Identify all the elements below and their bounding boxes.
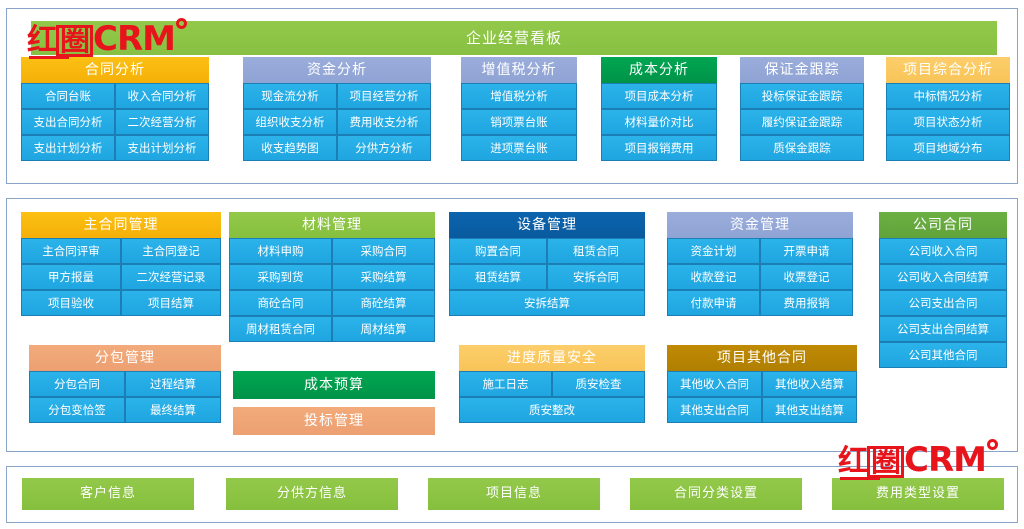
menu-item[interactable]: 主合同登记: [121, 238, 221, 264]
card-cost-budget[interactable]: 成本预算: [233, 371, 435, 399]
card-equipment-mgmt[interactable]: 设备管理 购置合同 租赁合同 租赁结算 安拆合同 安拆结算: [449, 212, 645, 316]
menu-item[interactable]: 付款申请: [667, 290, 760, 316]
card-company-contracts[interactable]: 公司合同 公司收入合同 公司收入合同结算 公司支出合同 公司支出合同结算 公司其…: [879, 212, 1007, 368]
btn-project-info[interactable]: 项目信息: [428, 478, 600, 510]
mid-management-panel: 主合同管理 主合同评审 主合同登记 甲方报量 二次经营记录 项目验收 项目结算 …: [6, 198, 1018, 452]
card-body: 施工日志 质安检查 质安整改: [459, 371, 645, 423]
btn-supplier-info[interactable]: 分供方信息: [226, 478, 398, 510]
menu-item[interactable]: 开票申请: [760, 238, 853, 264]
menu-item[interactable]: 最终结算: [125, 397, 221, 423]
menu-item[interactable]: 中标情况分析: [886, 83, 1010, 109]
card-header: 成本分析: [601, 57, 717, 83]
menu-item[interactable]: 现金流分析: [243, 83, 337, 109]
card-progress-quality-safety[interactable]: 进度质量安全 施工日志 质安检查 质安整改: [459, 345, 645, 423]
menu-item[interactable]: 其他收入合同: [667, 371, 762, 397]
menu-item[interactable]: 甲方报量: [21, 264, 121, 290]
card-header: 成本预算: [233, 371, 435, 399]
menu-item[interactable]: 采购结算: [332, 264, 435, 290]
menu-item[interactable]: 进项票台账: [461, 135, 577, 161]
card-header: 分包管理: [29, 345, 221, 371]
card-body: 现金流分析 项目经营分析 组织收支分析 费用收支分析 收支趋势图 分供方分析: [243, 83, 431, 161]
menu-item[interactable]: 质保金跟踪: [740, 135, 864, 161]
menu-item[interactable]: 收入合同分析: [115, 83, 209, 109]
menu-item[interactable]: 支出合同分析: [21, 109, 115, 135]
menu-item[interactable]: 项目经营分析: [337, 83, 431, 109]
menu-item[interactable]: 投标保证金跟踪: [740, 83, 864, 109]
menu-item[interactable]: 公司收入合同结算: [879, 264, 1007, 290]
card-fund-mgmt[interactable]: 资金管理 资金计划 开票申请 收款登记 收票登记 付款申请 费用报销: [667, 212, 853, 316]
card-main-contract-mgmt[interactable]: 主合同管理 主合同评审 主合同登记 甲方报量 二次经营记录 项目验收 项目结算: [21, 212, 221, 316]
card-body: 材料申购 采购合同 采购到货 采购结算 商砼合同 商砼结算 周材租赁合同 周材结…: [229, 238, 435, 342]
menu-item[interactable]: 其他支出合同: [667, 397, 762, 423]
brand-logo: 红圈CRM: [27, 22, 187, 57]
menu-item[interactable]: 二次经营分析: [115, 109, 209, 135]
menu-item[interactable]: 收票登记: [760, 264, 853, 290]
menu-item[interactable]: 收支趋势图: [243, 135, 337, 161]
menu-item[interactable]: 分包变恰签: [29, 397, 125, 423]
menu-item[interactable]: 项目成本分析: [601, 83, 717, 109]
card-header: 主合同管理: [21, 212, 221, 238]
card-cost-analysis[interactable]: 成本分析 项目成本分析 材料量价对比 项目报销费用: [601, 57, 717, 161]
brand-underline: [840, 477, 880, 480]
card-body: 购置合同 租赁合同 租赁结算 安拆合同 安拆结算: [449, 238, 645, 316]
btn-customer-info[interactable]: 客户信息: [22, 478, 194, 510]
degree-circle-icon: [987, 439, 998, 450]
card-body: 资金计划 开票申请 收款登记 收票登记 付款申请 费用报销: [667, 238, 853, 316]
card-header: 公司合同: [879, 212, 1007, 238]
card-project-overview-analysis[interactable]: 项目综合分析 中标情况分析 项目状态分析 项目地域分布: [886, 57, 1010, 161]
menu-item[interactable]: 项目结算: [121, 290, 221, 316]
menu-item[interactable]: 费用收支分析: [337, 109, 431, 135]
menu-item[interactable]: 项目地域分布: [886, 135, 1010, 161]
card-body: 投标保证金跟踪 履约保证金跟踪 质保金跟踪: [740, 83, 864, 161]
menu-item[interactable]: 履约保证金跟踪: [740, 109, 864, 135]
menu-item[interactable]: 项目报销费用: [601, 135, 717, 161]
menu-item[interactable]: 公司其他合同: [879, 342, 1007, 368]
card-header: 资金管理: [667, 212, 853, 238]
card-body: 增值税分析 销项票台账 进项票台账: [461, 83, 577, 161]
card-body: 合同台账 收入合同分析 支出合同分析 二次经营分析 支出计划分析 支出计划分析: [21, 83, 209, 161]
brand-cn-2: 圈: [867, 446, 904, 478]
menu-item[interactable]: 安拆合同: [547, 264, 645, 290]
card-header: 保证金跟踪: [740, 57, 864, 83]
menu-item[interactable]: 安拆结算: [449, 290, 645, 316]
menu-item[interactable]: 租赁结算: [449, 264, 547, 290]
brand-en: CRM: [93, 19, 175, 59]
card-body: 中标情况分析 项目状态分析 项目地域分布: [886, 83, 1010, 161]
menu-item[interactable]: 支出计划分析: [115, 135, 209, 161]
card-contract-analysis[interactable]: 合同分析 合同台账 收入合同分析 支出合同分析 二次经营分析 支出计划分析 支出…: [21, 57, 209, 161]
menu-item[interactable]: 资金计划: [667, 238, 760, 264]
menu-item[interactable]: 采购合同: [332, 238, 435, 264]
degree-circle-icon: [176, 18, 187, 29]
card-header: 材料管理: [229, 212, 435, 238]
card-body: 项目成本分析 材料量价对比 项目报销费用: [601, 83, 717, 161]
card-bid-mgmt[interactable]: 投标管理: [233, 407, 435, 435]
card-header: 进度质量安全: [459, 345, 645, 371]
menu-item[interactable]: 增值税分析: [461, 83, 577, 109]
card-vat-analysis[interactable]: 增值税分析 增值税分析 销项票台账 进项票台账: [461, 57, 577, 161]
menu-item[interactable]: 采购到货: [229, 264, 332, 290]
menu-item[interactable]: 其他支出结算: [762, 397, 857, 423]
menu-item[interactable]: 支出计划分析: [21, 135, 115, 161]
menu-item[interactable]: 商砼结算: [332, 290, 435, 316]
menu-item[interactable]: 周材结算: [332, 316, 435, 342]
card-deposit-tracking[interactable]: 保证金跟踪 投标保证金跟踪 履约保证金跟踪 质保金跟踪: [740, 57, 864, 161]
menu-item[interactable]: 项目状态分析: [886, 109, 1010, 135]
menu-item[interactable]: 费用报销: [760, 290, 853, 316]
card-body: 公司收入合同 公司收入合同结算 公司支出合同 公司支出合同结算 公司其他合同: [879, 238, 1007, 368]
card-body: 主合同评审 主合同登记 甲方报量 二次经营记录 项目验收 项目结算: [21, 238, 221, 316]
btn-contract-category-settings[interactable]: 合同分类设置: [630, 478, 802, 510]
menu-item[interactable]: 项目验收: [21, 290, 121, 316]
brand-logo-bottom: 红圈CRM: [838, 443, 998, 478]
card-body: 其他收入合同 其他收入结算 其他支出合同 其他支出结算: [667, 371, 857, 423]
menu-item[interactable]: 分包合同: [29, 371, 125, 397]
menu-item[interactable]: 租赁合同: [547, 238, 645, 264]
brand-en: CRM: [904, 440, 986, 480]
menu-item[interactable]: 分供方分析: [337, 135, 431, 161]
menu-item[interactable]: 质安检查: [552, 371, 645, 397]
menu-item[interactable]: 合同台账: [21, 83, 115, 109]
menu-item[interactable]: 公司支出合同: [879, 290, 1007, 316]
card-header: 资金分析: [243, 57, 431, 83]
card-fund-analysis[interactable]: 资金分析 现金流分析 项目经营分析 组织收支分析 费用收支分析 收支趋势图 分供…: [243, 57, 431, 161]
card-header: 设备管理: [449, 212, 645, 238]
brand-cn-1: 红: [838, 444, 867, 479]
brand-cn-1: 红: [27, 23, 56, 58]
card-subcontract-mgmt[interactable]: 分包管理 分包合同 过程结算 分包变恰签 最终结算: [29, 345, 221, 423]
menu-item[interactable]: 其他收入结算: [762, 371, 857, 397]
menu-item[interactable]: 商砼合同: [229, 290, 332, 316]
btn-expense-type-settings[interactable]: 费用类型设置: [832, 478, 1004, 510]
brand-cn-2: 圈: [56, 25, 93, 57]
menu-item[interactable]: 过程结算: [125, 371, 221, 397]
card-header: 项目综合分析: [886, 57, 1010, 83]
menu-item[interactable]: 销项票台账: [461, 109, 577, 135]
brand-underline: [29, 56, 69, 59]
menu-item[interactable]: 二次经营记录: [121, 264, 221, 290]
menu-item[interactable]: 公司支出合同结算: [879, 316, 1007, 342]
menu-item[interactable]: 施工日志: [459, 371, 552, 397]
menu-item[interactable]: 公司收入合同: [879, 238, 1007, 264]
menu-item[interactable]: 购置合同: [449, 238, 547, 264]
card-body: 分包合同 过程结算 分包变恰签 最终结算: [29, 371, 221, 423]
card-header: 合同分析: [21, 57, 209, 83]
card-header: 增值税分析: [461, 57, 577, 83]
menu-item[interactable]: 材料申购: [229, 238, 332, 264]
card-header: 项目其他合同: [667, 345, 857, 371]
menu-item[interactable]: 收款登记: [667, 264, 760, 290]
dashboard-page: 企业经营看板 合同分析 合同台账 收入合同分析 支出合同分析 二次经营分析 支出…: [0, 0, 1024, 529]
menu-item[interactable]: 主合同评审: [21, 238, 121, 264]
menu-item[interactable]: 材料量价对比: [601, 109, 717, 135]
menu-item[interactable]: 质安整改: [459, 397, 645, 423]
card-material-mgmt[interactable]: 材料管理 材料申购 采购合同 采购到货 采购结算 商砼合同 商砼结算 周材租赁合…: [229, 212, 435, 342]
card-project-other-contracts[interactable]: 项目其他合同 其他收入合同 其他收入结算 其他支出合同 其他支出结算: [667, 345, 857, 423]
card-header: 投标管理: [233, 407, 435, 435]
menu-item[interactable]: 组织收支分析: [243, 109, 337, 135]
menu-item[interactable]: 周材租赁合同: [229, 316, 332, 342]
